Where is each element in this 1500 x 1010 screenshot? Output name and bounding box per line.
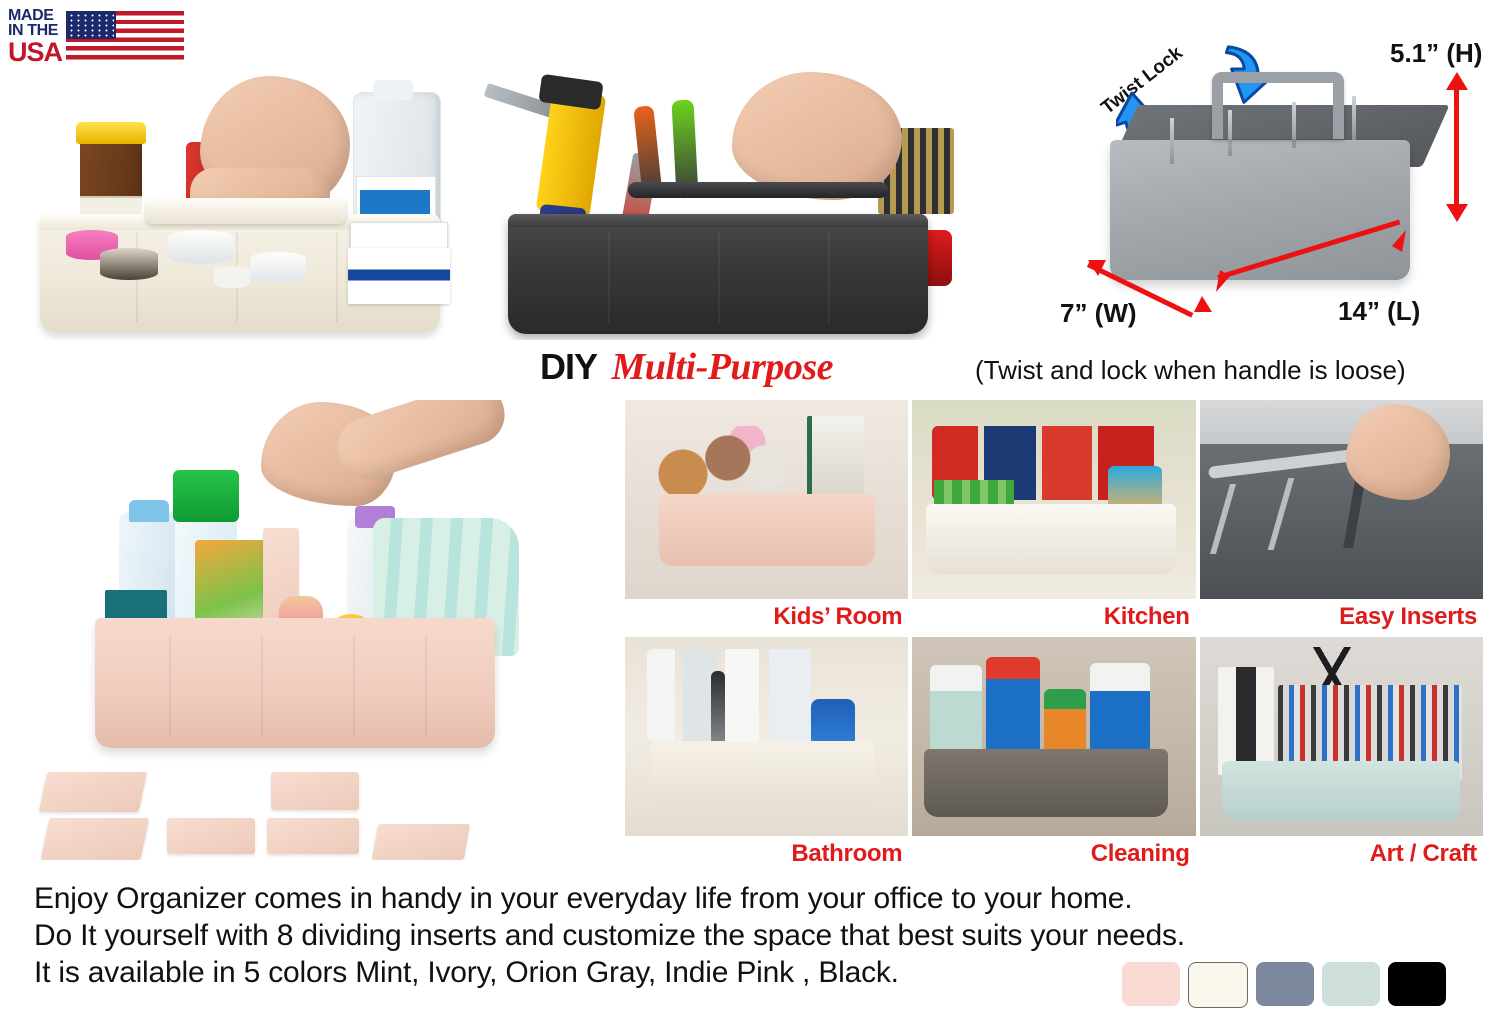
- divider-insert: [267, 818, 359, 854]
- caddy-handle: [1212, 72, 1344, 139]
- length-label: 14” (L): [1338, 296, 1420, 327]
- divider-insert: [167, 818, 255, 854]
- tray-handle: [146, 198, 346, 224]
- tray-seam: [828, 232, 830, 324]
- ivory-caddy-with-medicine-photo: [18, 70, 468, 340]
- divider-insert: [271, 772, 359, 810]
- usa-flag-icon: [66, 11, 184, 63]
- divider-insert: [41, 818, 150, 860]
- made-in-usa-text: MADE IN THE USA: [8, 9, 62, 64]
- bathroom-tray: [651, 741, 875, 813]
- vitamin-bottle-cap: [76, 122, 146, 144]
- usecase-kitchen[interactable]: Kitchen: [912, 400, 1195, 633]
- hand-holding-tool-bar: [732, 72, 902, 200]
- tray-seam: [718, 232, 720, 324]
- kitchen-scene: [912, 400, 1195, 599]
- flag-canton: [66, 11, 116, 39]
- bathroom-scene: [625, 637, 908, 836]
- green-cap: [173, 470, 239, 522]
- pink-tray: [95, 618, 495, 748]
- alcohol-jug-cap: [373, 80, 413, 100]
- width-label: 7” (W): [1060, 298, 1137, 329]
- headline-diy: DIY: [540, 346, 597, 387]
- easy-inserts-scene: [1200, 400, 1483, 599]
- tray-seam: [353, 636, 355, 738]
- height-arrow-heads-icon: [1444, 72, 1470, 222]
- kids-room-tray: [659, 494, 875, 566]
- headline: DIY Multi-Purpose: [540, 345, 833, 389]
- picture-book: [807, 416, 864, 502]
- art-craft-scene: [1200, 637, 1483, 836]
- flag-stars: [68, 13, 114, 37]
- divider-insert: [39, 772, 148, 812]
- usecase-cleaning[interactable]: Cleaning: [912, 637, 1195, 870]
- usecase-art-craft[interactable]: Art / Craft: [1200, 637, 1483, 870]
- color-swatch-row: [1122, 962, 1446, 1008]
- tray-seam: [425, 636, 427, 738]
- swatch-ivory[interactable]: [1188, 962, 1248, 1008]
- usecase-label: Easy Inserts: [1339, 603, 1477, 631]
- usecase-bathroom[interactable]: Bathroom: [625, 637, 908, 870]
- bandaid-box-top: [350, 222, 448, 250]
- art-craft-tray: [1222, 761, 1460, 821]
- baby-powder-cap: [129, 500, 169, 522]
- description-line-2: Do It yourself with 8 dividing inserts a…: [34, 917, 1114, 954]
- dark-jar: [100, 248, 158, 280]
- kids-room-scene: [625, 400, 908, 599]
- caddy-divider: [1170, 118, 1174, 164]
- blue-soap-dispenser: [811, 699, 855, 747]
- usecase-kids-room[interactable]: Kids’ Room: [625, 400, 908, 633]
- swatch-mint[interactable]: [1322, 962, 1380, 1006]
- white-jar-small: [214, 266, 250, 288]
- usecase-label: Cleaning: [1091, 840, 1190, 868]
- description-line-3: It is available in 5 colors Mint, Ivory,…: [34, 954, 1114, 991]
- black-tool-bar: [628, 182, 888, 198]
- black-caddy-with-tools-photo: [478, 70, 978, 340]
- hand-inserting-divider: [1346, 404, 1450, 500]
- black-tray: [508, 214, 928, 334]
- infographic-canvas: MADE IN THE USA: [0, 0, 1500, 1010]
- cleaning-tray: [924, 749, 1168, 817]
- usecase-label: Art / Craft: [1370, 840, 1477, 868]
- dimension-diagram: Twist Lock 5.1” (H) 14” (L): [1060, 10, 1490, 340]
- badge-line-3: USA: [8, 40, 62, 65]
- notebooks: [1218, 667, 1274, 775]
- usecase-label: Bathroom: [791, 840, 902, 868]
- tray-seam: [169, 636, 171, 738]
- usecase-easy-inserts[interactable]: Easy Inserts: [1200, 400, 1483, 633]
- swatch-orion-gray[interactable]: [1256, 962, 1314, 1006]
- swatch-indie-pink[interactable]: [1122, 962, 1180, 1006]
- tray-seam: [608, 232, 610, 324]
- description-line-1: Enjoy Organizer comes in handy in your e…: [34, 880, 1114, 917]
- usecase-label: Kids’ Room: [773, 603, 902, 631]
- height-label: 5.1” (H): [1390, 38, 1482, 69]
- headline-multi-purpose: Multi-Purpose: [611, 346, 833, 388]
- bandaid-box-bottom: [348, 248, 450, 304]
- length-arrow-heads-icon: [1206, 222, 1426, 302]
- tray-seam: [336, 232, 338, 322]
- tray-seam: [261, 636, 263, 738]
- kitchen-tray: [926, 504, 1176, 574]
- cleaning-scene: [912, 637, 1195, 836]
- divider-insert: [372, 824, 470, 860]
- pink-caddy-with-baby-supplies-photo: [35, 400, 595, 860]
- alcohol-label-band: [360, 190, 430, 214]
- made-in-usa-badge: MADE IN THE USA: [8, 8, 194, 66]
- caddy-divider: [1352, 96, 1356, 140]
- usecase-label: Kitchen: [1104, 603, 1190, 631]
- usecase-grid: Kids’ Room Kitchen Easy Inserts: [625, 400, 1483, 870]
- twist-lock-note: (Twist and lock when handle is loose): [975, 355, 1406, 386]
- tray-rim: [508, 214, 928, 227]
- white-jar-right: [250, 252, 306, 282]
- description-block: Enjoy Organizer comes in handy in your e…: [34, 880, 1114, 992]
- swatch-black[interactable]: [1388, 962, 1446, 1006]
- white-jar-large: [168, 230, 234, 264]
